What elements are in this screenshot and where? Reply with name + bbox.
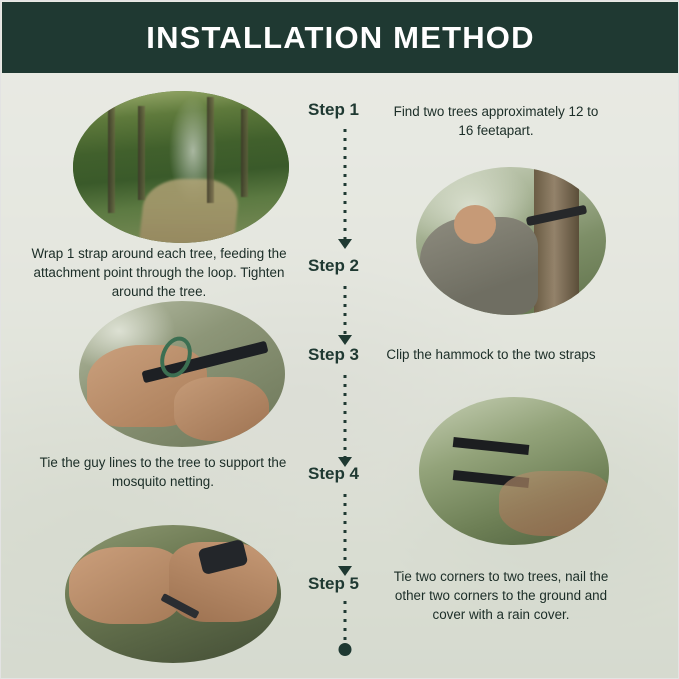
arrow-head-icon xyxy=(338,239,352,249)
step-label-1: Step 1 xyxy=(308,100,359,120)
guy-line-tree-photo xyxy=(419,397,609,545)
step-label-5: Step 5 xyxy=(308,574,359,594)
person-head xyxy=(454,205,496,243)
dotted-line xyxy=(344,375,347,465)
tree-trunk xyxy=(534,167,580,315)
forest-trail-photo xyxy=(73,91,289,243)
hand xyxy=(69,547,181,624)
step-label-3: Step 3 xyxy=(308,345,359,365)
step-caption-3: Clip the hammock to the two straps xyxy=(386,345,596,364)
connector-arrow-5 xyxy=(334,601,356,647)
dotted-line xyxy=(344,494,347,574)
page-title: INSTALLATION METHOD xyxy=(146,20,534,56)
step-label-2: Step 2 xyxy=(308,256,359,276)
step-label-4: Step 4 xyxy=(308,464,359,484)
connector-arrow-1 xyxy=(334,129,356,247)
dotted-line xyxy=(344,601,347,647)
tree-trunk xyxy=(207,97,214,203)
stake-ground-photo xyxy=(65,525,281,663)
end-dot-marker xyxy=(339,643,352,656)
step-caption-1: Find two trees approximately 12 to 16 fe… xyxy=(386,102,606,140)
forest-trail-photo-image xyxy=(73,91,289,243)
tree-trunk xyxy=(241,109,248,197)
trail-path xyxy=(138,179,240,243)
stake-ground-photo-image xyxy=(65,525,281,663)
hand xyxy=(174,377,269,441)
guy-line-tree-photo-image xyxy=(419,397,609,545)
dotted-line xyxy=(344,129,347,247)
step-caption-5: Tie two corners to two trees, nail the o… xyxy=(379,567,623,624)
connector-arrow-3 xyxy=(334,375,356,465)
tree-trunk xyxy=(108,100,115,212)
arm xyxy=(499,471,609,536)
step-caption-4: Tie the guy lines to the tree to support… xyxy=(34,453,292,491)
connector-arrow-2 xyxy=(334,286,356,343)
header-bar: INSTALLATION METHOD xyxy=(2,2,679,73)
connector-arrow-4 xyxy=(334,494,356,574)
carabiner-clip-photo-image xyxy=(79,301,285,447)
arrow-head-icon xyxy=(338,335,352,345)
carabiner-clip-photo xyxy=(79,301,285,447)
strap-around-tree-photo xyxy=(416,167,606,315)
strap-around-tree-photo-image xyxy=(416,167,606,315)
step-caption-2: Wrap 1 strap around each tree, feeding t… xyxy=(23,244,295,301)
infographic-page: INSTALLATION METHOD Step 1 Find two tree… xyxy=(0,0,679,679)
tree-trunk xyxy=(138,106,145,200)
